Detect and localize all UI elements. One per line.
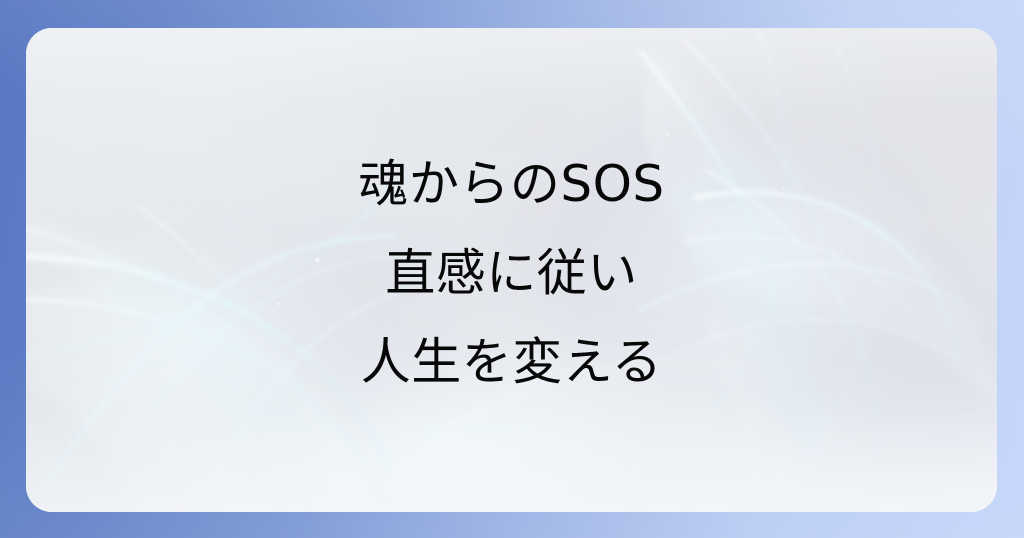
headline-line-1: 魂からのSOS [26, 140, 997, 229]
screenshot-canvas: 魂からのSOS 直感に従い 人生を変える [0, 0, 1024, 538]
headline-text-block: 魂からのSOS 直感に従い 人生を変える [26, 140, 997, 407]
headline-line-3: 人生を変える [26, 318, 997, 407]
headline-line-2: 直感に従い [26, 229, 997, 318]
quote-card: 魂からのSOS 直感に従い 人生を変える [26, 28, 997, 512]
